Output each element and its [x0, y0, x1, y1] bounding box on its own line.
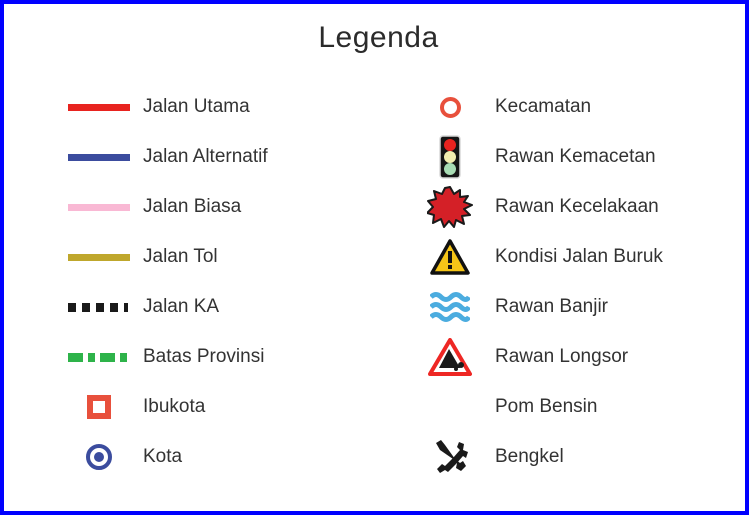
circle-bullseye-blue-icon [59, 433, 139, 481]
square-outline-red-icon [59, 383, 139, 431]
legend-item-label: Rawan Longsor [481, 346, 628, 368]
page-title: Legenda [4, 21, 749, 55]
legend-item-label: Jalan Alternatif [139, 146, 268, 168]
dotted-line-black-icon [59, 283, 139, 331]
legend-item-label: Rawan Kemacetan [481, 146, 656, 168]
legend-item-label: Kota [139, 446, 182, 468]
legend-item-label: Kecamatan [481, 96, 591, 118]
legend-item-label: Batas Provinsi [139, 346, 264, 368]
solid-line-red-icon [59, 83, 139, 131]
landslide-sign-icon [419, 333, 481, 381]
legend-item-label: Jalan KA [139, 296, 219, 318]
legend-item-rawan-kemacetan: Rawan Kemacetan [419, 132, 739, 182]
legend-item-batas-provinsi: Batas Provinsi [59, 332, 389, 382]
legend-left-column: Jalan Utama Jalan Alternatif Jalan Biasa… [59, 82, 389, 482]
legend-item-label: Pom Bensin [481, 396, 597, 418]
circle-outline-red-icon [419, 83, 481, 131]
legend-item-label: Kondisi Jalan Buruk [481, 246, 663, 268]
legend-item-label: Jalan Tol [139, 246, 218, 268]
legend-item-jalan-ka: Jalan KA [59, 282, 389, 332]
solid-line-pink-icon [59, 183, 139, 231]
explosion-starburst-icon [419, 183, 481, 231]
legend-item-bengkel: Bengkel [419, 432, 739, 482]
legend-item-jalan-utama: Jalan Utama [59, 82, 389, 132]
legend-item-label: Jalan Utama [139, 96, 250, 118]
legend-item-rawan-banjir: Rawan Banjir [419, 282, 739, 332]
solid-line-blue-icon [59, 133, 139, 181]
legend-item-rawan-kecelakaan: Rawan Kecelakaan [419, 182, 739, 232]
legend-item-label: Jalan Biasa [139, 196, 241, 218]
warning-triangle-icon [419, 233, 481, 281]
legend-right-column: Kecamatan Rawan Kemacetan Rawan Kecelaka… [419, 82, 739, 482]
wrench-hammer-icon [419, 433, 481, 481]
water-waves-icon [419, 283, 481, 331]
missing-image-icon [419, 383, 481, 431]
legend-item-kota: Kota [59, 432, 389, 482]
legend-item-jalan-alternatif: Jalan Alternatif [59, 132, 389, 182]
legend-item-rawan-longsor: Rawan Longsor [419, 332, 739, 382]
legend-item-jalan-biasa: Jalan Biasa [59, 182, 389, 232]
legend-item-label: Rawan Banjir [481, 296, 608, 318]
legend-item-pom-bensin: Pom Bensin [419, 382, 739, 432]
legend-item-ibukota: Ibukota [59, 382, 389, 432]
legend-item-label: Ibukota [139, 396, 205, 418]
traffic-light-icon [419, 133, 481, 181]
legend-item-jalan-tol: Jalan Tol [59, 232, 389, 282]
legend-panel: Legenda Jalan Utama Jalan Alternatif Jal… [0, 0, 749, 515]
solid-line-olive-icon [59, 233, 139, 281]
legend-item-label: Bengkel [481, 446, 564, 468]
legend-item-kecamatan: Kecamatan [419, 82, 739, 132]
legend-item-label: Rawan Kecelakaan [481, 196, 659, 218]
legend-item-kondisi-jalan-buruk: Kondisi Jalan Buruk [419, 232, 739, 282]
dash-dot-line-green-icon [59, 333, 139, 381]
